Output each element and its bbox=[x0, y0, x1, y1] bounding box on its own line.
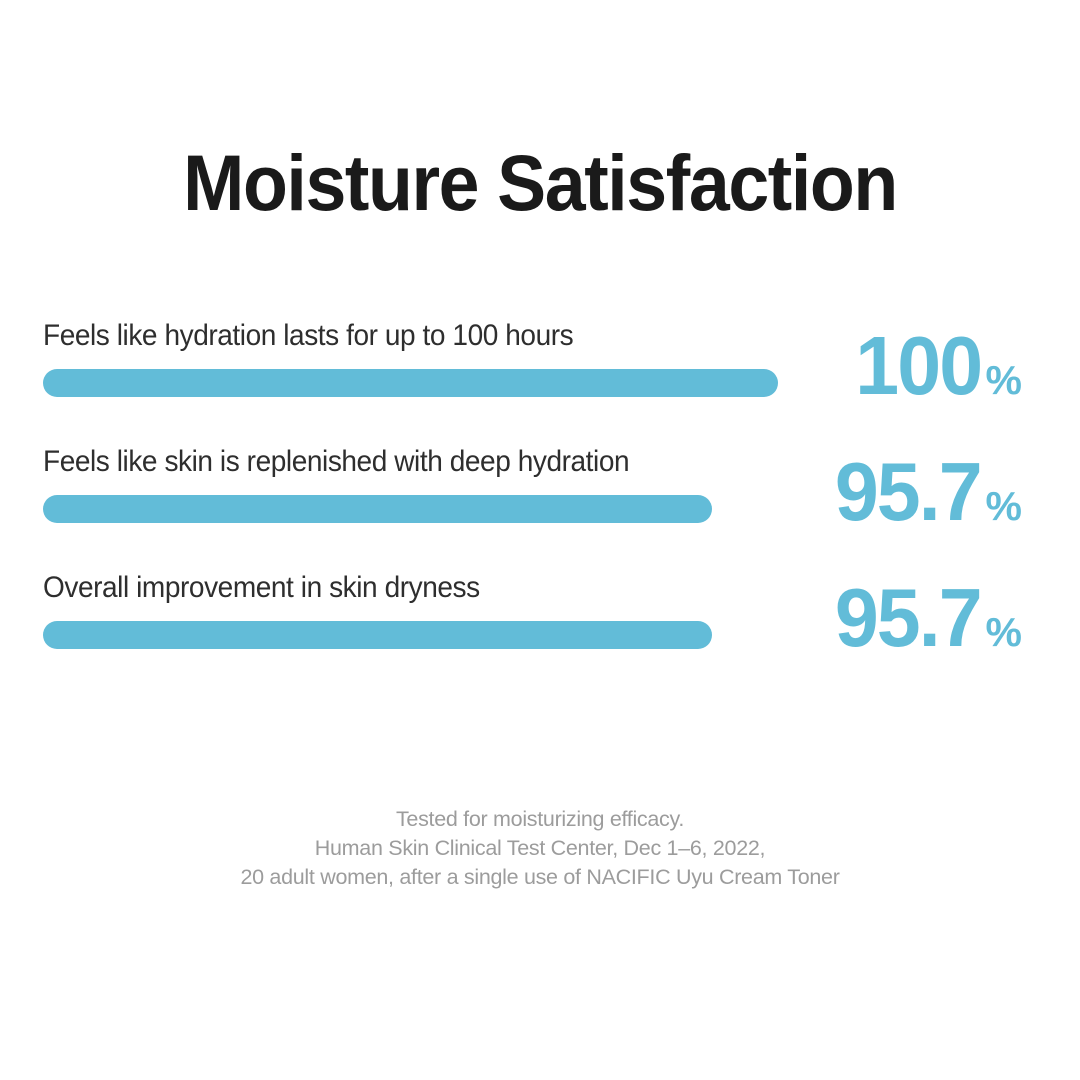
bar-value: 100 % bbox=[852, 324, 1021, 407]
bar-row: Overall improvement in skin dryness 95.7… bbox=[43, 570, 1043, 696]
bar-label: Overall improvement in skin dryness bbox=[43, 570, 741, 605]
bar-value-unit: % bbox=[986, 612, 1021, 653]
moisture-satisfaction-infographic: Moisture Satisfaction Feels like hydrati… bbox=[0, 0, 1080, 1080]
bar-track bbox=[43, 621, 778, 649]
bar-value-number: 95.7 bbox=[835, 576, 981, 659]
bar-fill bbox=[43, 621, 712, 649]
bar-row-content: Overall improvement in skin dryness bbox=[43, 570, 778, 649]
bar-value-unit: % bbox=[986, 486, 1021, 527]
footnote-line-2: Human Skin Clinical Test Center, Dec 1–6… bbox=[0, 834, 1080, 863]
bar-value-number: 100 bbox=[855, 324, 981, 407]
bar-fill bbox=[43, 495, 712, 523]
bar-value: 95.7 % bbox=[831, 576, 1021, 659]
bar-row: Feels like skin is replenished with deep… bbox=[43, 444, 1043, 570]
bar-label: Feels like hydration lasts for up to 100… bbox=[43, 318, 741, 353]
bar-value-unit: % bbox=[986, 360, 1021, 401]
bar-chart: Feels like hydration lasts for up to 100… bbox=[43, 318, 1043, 696]
footnote-line-1: Tested for moisturizing efficacy. bbox=[0, 805, 1080, 834]
bar-value-number: 95.7 bbox=[835, 450, 981, 533]
bar-row: Feels like hydration lasts for up to 100… bbox=[43, 318, 1043, 444]
bar-track bbox=[43, 495, 778, 523]
bar-row-content: Feels like skin is replenished with deep… bbox=[43, 444, 778, 523]
footnote: Tested for moisturizing efficacy. Human … bbox=[0, 805, 1080, 892]
bar-track bbox=[43, 369, 778, 397]
bar-label: Feels like skin is replenished with deep… bbox=[43, 444, 741, 479]
page-title: Moisture Satisfaction bbox=[38, 143, 1042, 222]
bar-fill bbox=[43, 369, 778, 397]
bar-value: 95.7 % bbox=[831, 450, 1021, 533]
footnote-line-3: 20 adult women, after a single use of NA… bbox=[0, 863, 1080, 892]
bar-row-content: Feels like hydration lasts for up to 100… bbox=[43, 318, 778, 397]
